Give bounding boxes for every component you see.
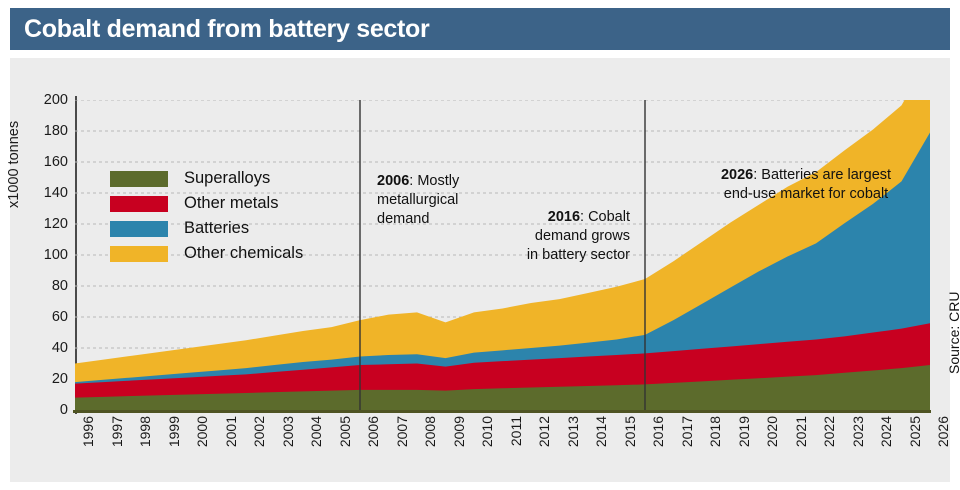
x-tick-label: 2019: [736, 416, 752, 447]
y-tick-label: 200: [44, 92, 68, 108]
legend-label: Other chemicals: [184, 244, 303, 263]
x-tick-label: 1997: [109, 416, 125, 447]
y-tick-label: 40: [52, 340, 68, 356]
y-tick-label: 0: [60, 402, 68, 418]
y-tick-label: 60: [52, 309, 68, 325]
legend-item-batteries[interactable]: Batteries: [110, 216, 303, 241]
x-tick-label: 2004: [308, 416, 324, 447]
x-tick-label: 2012: [536, 416, 552, 447]
x-tick-label: 2022: [821, 416, 837, 447]
annotation-2006-line1: : Mostly: [409, 173, 459, 189]
x-tick-label: 2013: [565, 416, 581, 447]
x-tick-label: 2000: [194, 416, 210, 447]
legend-label: Superalloys: [184, 169, 270, 188]
legend-swatch: [110, 196, 168, 212]
chart-legend: SuperalloysOther metalsBatteriesOther ch…: [110, 166, 303, 266]
source-note: Source: CRU: [946, 292, 960, 374]
annotation-2026: 2026: Batteries are largest end-use mark…: [690, 166, 922, 204]
x-tick-label: 2008: [422, 416, 438, 447]
x-tick-label: 2007: [394, 416, 410, 447]
page-title: Cobalt demand from battery sector: [10, 15, 429, 44]
x-tick-label: 2015: [622, 416, 638, 447]
x-tick-label: 2003: [280, 416, 296, 447]
annotation-2006-line3: demand: [377, 210, 459, 229]
x-tick-label: 2010: [479, 416, 495, 447]
x-tick-label: 2024: [878, 416, 894, 447]
title-bar: Cobalt demand from battery sector: [10, 8, 950, 50]
x-tick-label: 2001: [223, 416, 239, 447]
annotation-2006-line2: metallurgical: [377, 191, 459, 210]
x-tick-label: 2011: [508, 416, 524, 446]
legend-item-other-metals[interactable]: Other metals: [110, 191, 303, 216]
legend-item-superalloys[interactable]: Superalloys: [110, 166, 303, 191]
y-tick-label: 20: [52, 371, 68, 387]
x-axis-ticks: 1996199719981999200020012002200320042005…: [75, 416, 930, 478]
y-tick-label: 140: [44, 185, 68, 201]
annotation-2026-year: 2026: [721, 167, 753, 183]
x-tick-label: 2009: [451, 416, 467, 447]
legend-label: Batteries: [184, 219, 249, 238]
annotation-2016: 2016: Cobalt demand grows in battery sec…: [510, 208, 630, 265]
y-tick-label: 180: [44, 123, 68, 139]
y-tick-label: 160: [44, 154, 68, 170]
annotation-2026-line2: end-use market for cobalt: [690, 185, 922, 204]
chart-panel: x1000 tonnes 020406080100120140160180200…: [10, 58, 950, 482]
x-tick-label: 2021: [793, 416, 809, 447]
x-tick-label: 2026: [935, 416, 951, 447]
x-tick-label: 1999: [166, 416, 182, 447]
x-tick-label: 2017: [679, 416, 695, 447]
x-tick-label: 2014: [593, 416, 609, 447]
x-tick-label: 1996: [80, 416, 96, 447]
x-tick-label: 2006: [365, 416, 381, 447]
annotation-2016-line2: demand grows: [510, 227, 630, 246]
x-tick-label: 2018: [707, 416, 723, 447]
annotation-2016-line1: : Cobalt: [580, 209, 630, 225]
x-tick-label: 2005: [337, 416, 353, 447]
annotation-2026-line1: : Batteries are largest: [753, 167, 891, 183]
legend-item-other-chemicals[interactable]: Other chemicals: [110, 241, 303, 266]
annotation-2006-year: 2006: [377, 173, 409, 189]
y-tick-label: 100: [44, 247, 68, 263]
x-tick-label: 2020: [764, 416, 780, 447]
y-tick-label: 120: [44, 216, 68, 232]
y-tick-label: 80: [52, 278, 68, 294]
legend-swatch: [110, 221, 168, 237]
annotation-2006: 2006: Mostly metallurgical demand: [377, 172, 459, 229]
x-tick-label: 2016: [650, 416, 666, 447]
x-tick-label: 1998: [137, 416, 153, 447]
annotation-2016-year: 2016: [548, 209, 580, 225]
chart-page: Cobalt demand from battery sector x1000 …: [0, 0, 960, 490]
x-tick-label: 2025: [907, 416, 923, 447]
legend-swatch: [110, 246, 168, 262]
x-tick-label: 2023: [850, 416, 866, 447]
x-axis-line: [73, 410, 931, 413]
annotation-2016-line3: in battery sector: [510, 246, 630, 265]
y-axis-ticks: 020406080100120140160180200: [10, 100, 68, 410]
legend-label: Other metals: [184, 194, 278, 213]
legend-swatch: [110, 171, 168, 187]
x-tick-label: 2002: [251, 416, 267, 447]
